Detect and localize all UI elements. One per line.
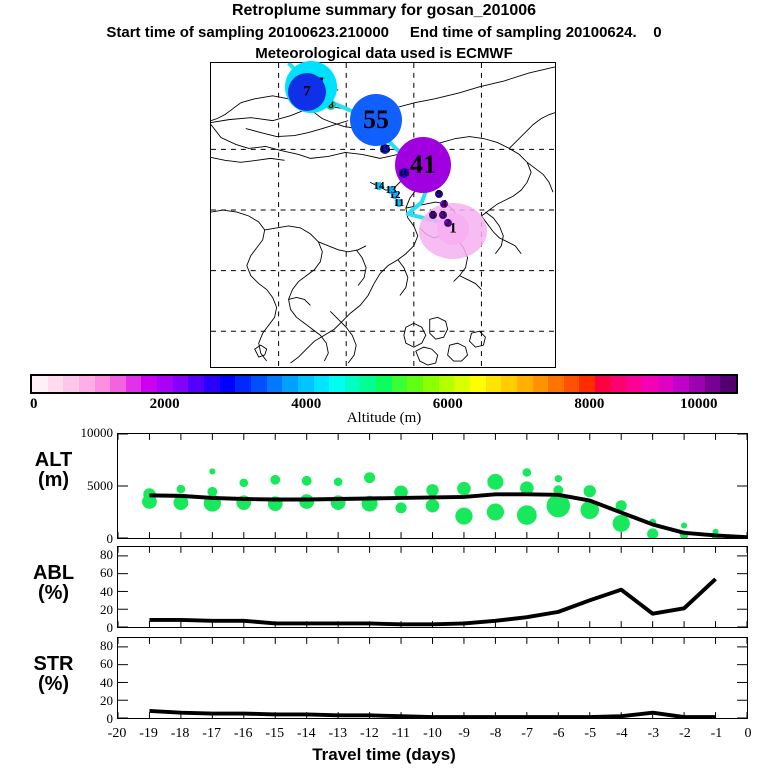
alt-axis-label-line1: ALT bbox=[6, 450, 101, 470]
alt-scatter-marker bbox=[302, 476, 312, 486]
colorbar-swatch bbox=[157, 376, 173, 392]
retroplume-map[interactable]: 1234591011121314411615558677 bbox=[210, 62, 556, 368]
altitude-colorbar bbox=[30, 374, 738, 394]
plume-marker-label: 14 bbox=[374, 180, 385, 192]
alt-scatter-marker bbox=[395, 502, 406, 513]
colorbar-swatch bbox=[314, 376, 330, 392]
x-axis-tick-label: -1 bbox=[711, 726, 723, 742]
colorbar-swatch bbox=[298, 376, 314, 392]
colorbar-swatch bbox=[720, 376, 736, 392]
colorbar-swatch bbox=[423, 376, 439, 392]
x-axis-tick-label: -10 bbox=[423, 726, 442, 742]
colorbar-swatch bbox=[673, 376, 689, 392]
alt-scatter-marker bbox=[487, 503, 504, 520]
colorbar-swatch bbox=[705, 376, 721, 392]
colorbar-swatch bbox=[392, 376, 408, 392]
alt-scatter-marker bbox=[647, 528, 658, 538]
x-axis-tick-label: -6 bbox=[553, 726, 565, 742]
colorbar-axis-label: Altitude (m) bbox=[0, 410, 768, 427]
alt-scatter-marker bbox=[555, 475, 562, 482]
colorbar-swatch bbox=[564, 376, 580, 392]
plume-marker-label: 7 bbox=[303, 84, 311, 101]
x-axis-title: Travel time (days) bbox=[0, 745, 768, 765]
alt-scatter-marker bbox=[209, 468, 215, 474]
x-axis-tick-label: -4 bbox=[616, 726, 628, 742]
x-axis-tick-label: -13 bbox=[329, 726, 348, 742]
y-axis-tick-label: 60 bbox=[55, 656, 113, 672]
colorbar-swatch bbox=[439, 376, 455, 392]
alt-scatter-marker bbox=[364, 472, 375, 483]
x-axis-tick-label: -12 bbox=[360, 726, 379, 742]
colorbar-swatch bbox=[48, 376, 64, 392]
colorbar-swatch bbox=[626, 376, 642, 392]
y-axis-tick-label: 40 bbox=[55, 675, 113, 691]
x-axis-tick-label: 0 bbox=[745, 726, 752, 742]
x-axis-tick-label: -15 bbox=[265, 726, 284, 742]
x-axis-tick-label: -19 bbox=[139, 726, 158, 742]
colorbar-swatch bbox=[267, 376, 283, 392]
plume-marker-label: 16 bbox=[399, 167, 410, 179]
colorbar-swatch bbox=[95, 376, 111, 392]
abl-plot bbox=[118, 547, 747, 627]
y-axis-tick-label: 0 bbox=[55, 620, 113, 636]
alt-scatter-marker bbox=[523, 468, 532, 477]
colorbar-swatch bbox=[329, 376, 345, 392]
plume-marker-label: 5 bbox=[430, 209, 436, 221]
alt-scatter-marker bbox=[517, 505, 537, 524]
alt-scatter-marker bbox=[177, 485, 186, 494]
colorbar-swatch bbox=[517, 376, 533, 392]
colorbar-swatch bbox=[188, 376, 204, 392]
colorbar-swatch bbox=[110, 376, 126, 392]
colorbar-swatch bbox=[579, 376, 595, 392]
colorbar-swatch bbox=[63, 376, 79, 392]
x-axis-tick-label: -16 bbox=[234, 726, 253, 742]
x-axis-tick-label: -20 bbox=[108, 726, 127, 742]
alt-scatter-marker bbox=[457, 482, 471, 495]
sampling-time-line: Start time of sampling 20100623.210000 E… bbox=[0, 24, 768, 41]
colorbar-swatch bbox=[689, 376, 705, 392]
plume-marker-label: 13 bbox=[386, 184, 397, 196]
colorbar-swatch bbox=[126, 376, 142, 392]
x-axis-tick-label: -8 bbox=[490, 726, 502, 742]
colorbar-swatch bbox=[204, 376, 220, 392]
alt-scatter-marker bbox=[455, 508, 472, 525]
str-panel[interactable] bbox=[117, 637, 748, 719]
alt-scatter-marker bbox=[239, 479, 248, 488]
alt-scatter-marker bbox=[487, 474, 503, 490]
x-axis-tick-label: -9 bbox=[458, 726, 470, 742]
x-axis-tick-label: -5 bbox=[584, 726, 596, 742]
alt-plot bbox=[118, 434, 747, 538]
page-title: Retroplume summary for gosan_201006 bbox=[0, 2, 768, 20]
y-axis-tick-label: 40 bbox=[55, 584, 113, 600]
colorbar-swatch bbox=[79, 376, 95, 392]
met-data-line: Meteorological data used is ECMWF bbox=[0, 45, 768, 62]
y-axis-tick-label: 20 bbox=[55, 693, 113, 709]
colorbar-swatch bbox=[501, 376, 517, 392]
y-axis-tick-label: 0 bbox=[55, 711, 113, 727]
colorbar-swatch bbox=[376, 376, 392, 392]
y-axis-tick-label: 80 bbox=[55, 638, 113, 654]
x-axis-tick-label: -18 bbox=[171, 726, 190, 742]
colorbar-swatch bbox=[611, 376, 627, 392]
colorbar-swatch bbox=[642, 376, 658, 392]
x-axis-tick-label: -11 bbox=[392, 726, 410, 742]
y-axis-tick-label: 0 bbox=[55, 531, 113, 547]
plume-marker-label: 55 bbox=[363, 105, 389, 135]
x-axis-tick-label: -7 bbox=[521, 726, 533, 742]
colorbar-swatch bbox=[407, 376, 423, 392]
colorbar-swatch bbox=[595, 376, 611, 392]
alt-panel[interactable] bbox=[117, 433, 748, 539]
colorbar-swatch bbox=[282, 376, 298, 392]
alt-scatter-marker bbox=[299, 494, 314, 509]
x-axis-tick-label: -17 bbox=[202, 726, 221, 742]
colorbar-swatch bbox=[360, 376, 376, 392]
colorbar-swatch bbox=[658, 376, 674, 392]
y-axis-tick-label: 60 bbox=[55, 565, 113, 581]
plume-marker-label: 9 bbox=[436, 188, 442, 200]
colorbar-swatch bbox=[173, 376, 189, 392]
colorbar-swatch bbox=[251, 376, 267, 392]
colorbar-swatch bbox=[345, 376, 361, 392]
x-axis-tick-label: -2 bbox=[679, 726, 691, 742]
colorbar-swatch bbox=[548, 376, 564, 392]
colorbar-swatch bbox=[533, 376, 549, 392]
abl-panel[interactable] bbox=[117, 546, 748, 628]
colorbar-swatch bbox=[220, 376, 236, 392]
colorbar-swatch bbox=[235, 376, 251, 392]
x-axis-tick-label: -14 bbox=[297, 726, 316, 742]
x-axis-tick-label: -3 bbox=[648, 726, 660, 742]
y-axis-tick-label: 80 bbox=[55, 547, 113, 563]
alt-scatter-marker bbox=[334, 478, 343, 487]
colorbar-swatch bbox=[141, 376, 157, 392]
colorbar-swatch bbox=[454, 376, 470, 392]
alt-scatter-marker bbox=[613, 515, 630, 532]
y-axis-tick-label: 20 bbox=[55, 602, 113, 618]
alt-scatter-marker bbox=[426, 499, 440, 512]
alt-scatter-marker bbox=[681, 522, 687, 528]
plume-marker-label: 3 bbox=[440, 209, 446, 221]
plume-marker-label: 41 bbox=[410, 150, 436, 180]
colorbar-swatch bbox=[486, 376, 502, 392]
alt-scatter-marker bbox=[426, 484, 438, 496]
colorbar-swatch bbox=[470, 376, 486, 392]
y-axis-tick-label: 5000 bbox=[55, 478, 113, 494]
alt-scatter-marker bbox=[270, 475, 280, 485]
y-axis-tick-label: 10000 bbox=[55, 425, 113, 441]
str-plot bbox=[118, 638, 747, 718]
colorbar-swatch bbox=[32, 376, 48, 392]
alt-scatter-marker bbox=[584, 485, 596, 497]
